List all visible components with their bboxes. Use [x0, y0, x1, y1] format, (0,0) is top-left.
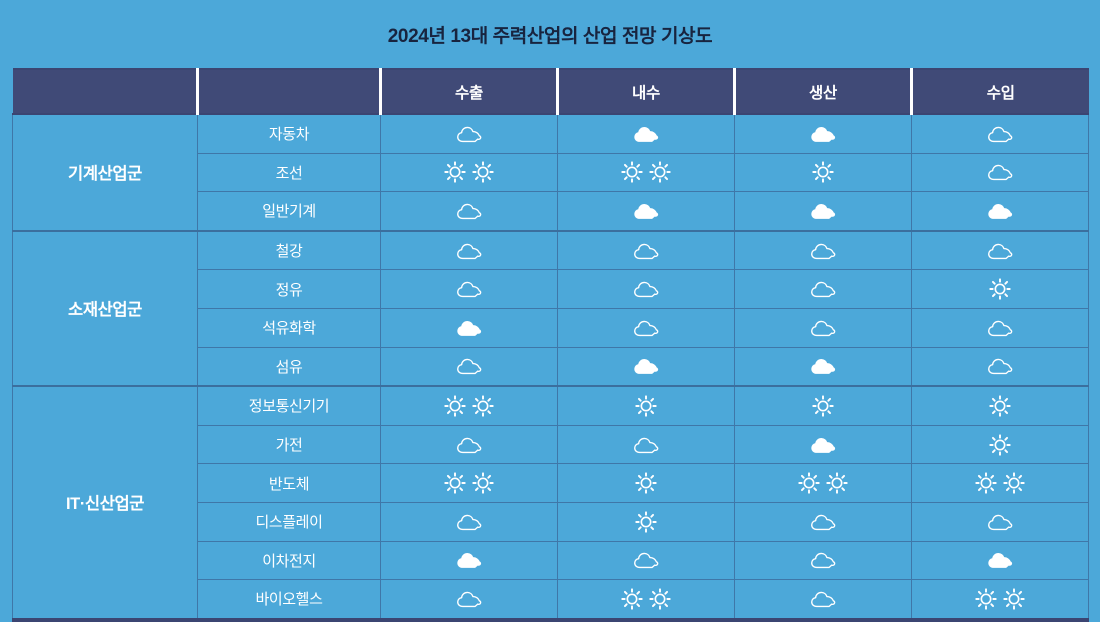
double-sun-icon — [444, 395, 494, 417]
forecast-cell-domestic — [558, 425, 735, 464]
forecast-cell-import — [912, 425, 1089, 464]
filled-cloud-icon-wrap — [809, 124, 837, 144]
forecast-cell-import — [912, 464, 1089, 503]
sun-icon — [444, 395, 466, 417]
filled-cloud-icon — [455, 318, 483, 338]
filled-cloud-icon-wrap — [455, 550, 483, 570]
header-domestic: 내수 — [558, 69, 735, 114]
forecast-cell-import — [912, 386, 1089, 425]
forecast-cell-import — [912, 192, 1089, 231]
forecast-cell-export — [381, 580, 558, 620]
filled-cloud-icon — [455, 550, 483, 570]
outline-cloud-icon-wrap — [632, 279, 660, 299]
forecast-cell-import — [912, 541, 1089, 580]
table-row: 소재산업군철강 — [13, 231, 1089, 270]
sun-icon — [621, 588, 643, 610]
outline-cloud-icon — [986, 241, 1014, 261]
filled-cloud-icon — [809, 124, 837, 144]
table-body: 기계산업군자동차조선일반기계소재산업군철강정유석유화학섬유IT·신산업군정보통신… — [13, 114, 1089, 620]
industry-label: 자동차 — [198, 114, 381, 153]
group-label-0: 기계산업군 — [13, 114, 198, 231]
outline-cloud-icon — [455, 356, 483, 376]
industry-label: 섬유 — [198, 347, 381, 386]
sun-icon — [472, 395, 494, 417]
industry-label: 정보통신기기 — [198, 386, 381, 425]
industry-label: 석유화학 — [198, 308, 381, 347]
forecast-cell-export — [381, 464, 558, 503]
sun-icon — [989, 434, 1011, 456]
forecast-page: 2024년 13대 주력산업의 산업 전망 기상도 수출 내수 생산 수입 기계… — [0, 0, 1100, 608]
industry-label: 이차전지 — [198, 541, 381, 580]
outline-cloud-icon-wrap — [986, 356, 1014, 376]
outline-cloud-icon — [809, 589, 837, 609]
filled-cloud-icon — [632, 356, 660, 376]
table-head: 수출 내수 생산 수입 — [13, 69, 1089, 114]
forecast-cell-domestic — [558, 308, 735, 347]
forecast-cell-export — [381, 308, 558, 347]
forecast-cell-import — [912, 347, 1089, 386]
industry-label: 가전 — [198, 425, 381, 464]
outline-cloud-icon-wrap — [455, 241, 483, 261]
outline-cloud-icon-wrap — [632, 318, 660, 338]
header-row: 수출 내수 생산 수입 — [13, 69, 1089, 114]
outline-cloud-icon-wrap — [455, 435, 483, 455]
forecast-cell-production — [735, 270, 912, 309]
forecast-cell-domestic — [558, 270, 735, 309]
forecast-cell-domestic — [558, 464, 735, 503]
sun-icon — [444, 472, 466, 494]
header-export: 수출 — [381, 69, 558, 114]
forecast-cell-export — [381, 425, 558, 464]
outline-cloud-icon — [455, 512, 483, 532]
outline-cloud-icon-wrap — [632, 550, 660, 570]
outline-cloud-icon — [986, 124, 1014, 144]
sun-icon-wrap — [635, 472, 657, 494]
industry-label: 반도체 — [198, 464, 381, 503]
forecast-cell-export — [381, 270, 558, 309]
sun-icon-wrap — [812, 161, 834, 183]
industry-label: 디스플레이 — [198, 502, 381, 541]
forecast-cell-production — [735, 502, 912, 541]
outline-cloud-icon-wrap — [455, 356, 483, 376]
industry-label: 일반기계 — [198, 192, 381, 231]
forecast-cell-production — [735, 425, 912, 464]
sun-icon-wrap — [635, 395, 657, 417]
header-production: 생산 — [735, 69, 912, 114]
filled-cloud-icon-wrap — [632, 201, 660, 221]
double-sun-icon — [621, 161, 671, 183]
double-sun-icon — [975, 472, 1025, 494]
outline-cloud-icon-wrap — [986, 512, 1014, 532]
filled-cloud-icon — [809, 201, 837, 221]
header-industry-blank — [198, 69, 381, 114]
forecast-cell-production — [735, 192, 912, 231]
outline-cloud-icon — [632, 318, 660, 338]
outline-cloud-icon-wrap — [809, 589, 837, 609]
forecast-cell-production — [735, 308, 912, 347]
outline-cloud-icon — [455, 435, 483, 455]
forecast-cell-domestic — [558, 347, 735, 386]
outline-cloud-icon — [632, 435, 660, 455]
outline-cloud-icon — [455, 124, 483, 144]
filled-cloud-icon — [632, 201, 660, 221]
filled-cloud-icon — [986, 550, 1014, 570]
forecast-cell-import — [912, 231, 1089, 270]
outline-cloud-icon-wrap — [455, 512, 483, 532]
sun-icon — [1003, 588, 1025, 610]
forecast-cell-production — [735, 464, 912, 503]
sun-icon — [798, 472, 820, 494]
filled-cloud-icon-wrap — [809, 435, 837, 455]
sun-icon — [812, 395, 834, 417]
filled-cloud-icon — [632, 124, 660, 144]
outline-cloud-icon-wrap — [809, 512, 837, 532]
sun-icon-wrap — [989, 395, 1011, 417]
forecast-cell-domestic — [558, 192, 735, 231]
group-label-2: IT·신산업군 — [13, 386, 198, 620]
filled-cloud-icon — [809, 435, 837, 455]
forecast-cell-import — [912, 153, 1089, 192]
outline-cloud-icon-wrap — [986, 318, 1014, 338]
industry-label: 정유 — [198, 270, 381, 309]
sun-icon-wrap — [989, 278, 1011, 300]
filled-cloud-icon-wrap — [809, 201, 837, 221]
table-row: IT·신산업군정보통신기기 — [13, 386, 1089, 425]
forecast-cell-import — [912, 270, 1089, 309]
industry-label: 조선 — [198, 153, 381, 192]
sun-icon — [989, 278, 1011, 300]
outline-cloud-icon — [455, 241, 483, 261]
outline-cloud-icon — [986, 512, 1014, 532]
forecast-cell-production — [735, 347, 912, 386]
forecast-cell-domestic — [558, 502, 735, 541]
forecast-cell-export — [381, 192, 558, 231]
outline-cloud-icon — [632, 241, 660, 261]
sun-icon — [812, 161, 834, 183]
sun-icon — [444, 161, 466, 183]
sun-icon — [649, 588, 671, 610]
forecast-cell-export — [381, 541, 558, 580]
forecast-cell-production — [735, 231, 912, 270]
forecast-cell-export — [381, 386, 558, 425]
header-group-blank — [13, 69, 198, 114]
forecast-cell-export — [381, 153, 558, 192]
outline-cloud-icon-wrap — [809, 550, 837, 570]
forecast-cell-domestic — [558, 153, 735, 192]
sun-icon — [621, 161, 643, 183]
double-sun-icon — [975, 588, 1025, 610]
forecast-cell-import — [912, 114, 1089, 153]
title-bar: 2024년 13대 주력산업의 산업 전망 기상도 — [0, 0, 1100, 68]
outline-cloud-icon-wrap — [809, 318, 837, 338]
sun-icon — [975, 588, 997, 610]
table-row: 기계산업군자동차 — [13, 114, 1089, 153]
page-title: 2024년 13대 주력산업의 산업 전망 기상도 — [388, 21, 713, 48]
forecast-cell-export — [381, 114, 558, 153]
outline-cloud-icon — [455, 279, 483, 299]
sun-icon-wrap — [812, 395, 834, 417]
forecast-cell-domestic — [558, 231, 735, 270]
forecast-cell-import — [912, 308, 1089, 347]
double-sun-icon — [798, 472, 848, 494]
outline-cloud-icon-wrap — [986, 162, 1014, 182]
filled-cloud-icon-wrap — [632, 356, 660, 376]
sun-icon — [989, 395, 1011, 417]
outline-cloud-icon — [455, 589, 483, 609]
outline-cloud-icon — [809, 241, 837, 261]
filled-cloud-icon-wrap — [986, 201, 1014, 221]
sun-icon — [975, 472, 997, 494]
filled-cloud-icon — [809, 356, 837, 376]
forecast-cell-domestic — [558, 386, 735, 425]
industry-label: 바이오헬스 — [198, 580, 381, 620]
outline-cloud-icon — [809, 512, 837, 532]
sun-icon — [635, 395, 657, 417]
industry-label: 철강 — [198, 231, 381, 270]
outline-cloud-icon-wrap — [455, 279, 483, 299]
table-container: 수출 내수 생산 수입 기계산업군자동차조선일반기계소재산업군철강정유석유화학섬… — [0, 68, 1100, 622]
forecast-cell-domestic — [558, 114, 735, 153]
forecast-cell-export — [381, 231, 558, 270]
sun-icon — [635, 511, 657, 533]
outline-cloud-icon — [455, 201, 483, 221]
forecast-cell-production — [735, 580, 912, 620]
forecast-cell-domestic — [558, 580, 735, 620]
forecast-cell-import — [912, 580, 1089, 620]
outline-cloud-icon — [809, 279, 837, 299]
forecast-cell-import — [912, 502, 1089, 541]
forecast-cell-production — [735, 386, 912, 425]
filled-cloud-icon — [986, 201, 1014, 221]
outline-cloud-icon-wrap — [455, 201, 483, 221]
industry-forecast-table: 수출 내수 생산 수입 기계산업군자동차조선일반기계소재산업군철강정유석유화학섬… — [12, 68, 1089, 622]
forecast-cell-production — [735, 541, 912, 580]
filled-cloud-icon-wrap — [986, 550, 1014, 570]
sun-icon — [635, 472, 657, 494]
group-label-1: 소재산업군 — [13, 231, 198, 386]
outline-cloud-icon — [986, 162, 1014, 182]
double-sun-icon — [444, 161, 494, 183]
forecast-cell-production — [735, 114, 912, 153]
sun-icon — [649, 161, 671, 183]
sun-icon-wrap — [635, 511, 657, 533]
filled-cloud-icon-wrap — [632, 124, 660, 144]
outline-cloud-icon — [632, 279, 660, 299]
sun-icon — [472, 161, 494, 183]
outline-cloud-icon — [632, 550, 660, 570]
outline-cloud-icon-wrap — [809, 279, 837, 299]
outline-cloud-icon-wrap — [809, 241, 837, 261]
filled-cloud-icon-wrap — [455, 318, 483, 338]
outline-cloud-icon-wrap — [986, 124, 1014, 144]
outline-cloud-icon-wrap — [455, 124, 483, 144]
outline-cloud-icon — [809, 550, 837, 570]
outline-cloud-icon — [986, 318, 1014, 338]
outline-cloud-icon-wrap — [455, 589, 483, 609]
forecast-cell-export — [381, 502, 558, 541]
filled-cloud-icon-wrap — [809, 356, 837, 376]
double-sun-icon — [444, 472, 494, 494]
sun-icon-wrap — [989, 434, 1011, 456]
header-import: 수입 — [912, 69, 1089, 114]
outline-cloud-icon-wrap — [986, 241, 1014, 261]
forecast-cell-export — [381, 347, 558, 386]
outline-cloud-icon-wrap — [632, 241, 660, 261]
sun-icon — [826, 472, 848, 494]
sun-icon — [472, 472, 494, 494]
outline-cloud-icon-wrap — [632, 435, 660, 455]
double-sun-icon — [621, 588, 671, 610]
outline-cloud-icon — [809, 318, 837, 338]
forecast-cell-production — [735, 153, 912, 192]
outline-cloud-icon — [986, 356, 1014, 376]
forecast-cell-domestic — [558, 541, 735, 580]
sun-icon — [1003, 472, 1025, 494]
